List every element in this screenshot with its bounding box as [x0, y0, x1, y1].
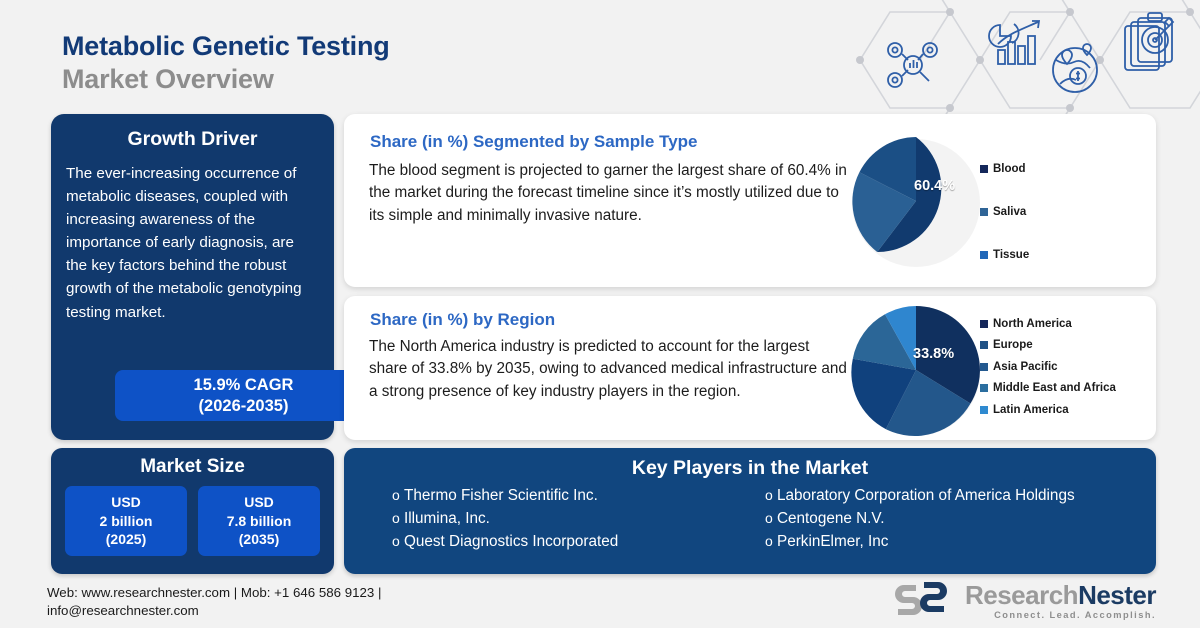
- contact-line-1: Web: www.researchnester.com | Mob: +1 64…: [47, 584, 577, 602]
- bullet-icon: o: [765, 508, 777, 529]
- player-name: Quest Diagnostics Incorporated: [404, 533, 618, 550]
- globe-money-icon: [1053, 44, 1097, 92]
- legend-swatch-latin-america: [980, 406, 988, 414]
- legend-item-blood: Blood: [980, 147, 1029, 190]
- hexagon-decoration: [850, 0, 1200, 120]
- key-players-title: Key Players in the Market: [362, 457, 1138, 480]
- sample-type-heading: Share (in %) Segmented by Sample Type: [370, 132, 698, 152]
- year-label: (2025): [106, 530, 146, 548]
- list-item: oPerkinElmer, Inc: [765, 531, 1138, 554]
- cagr-period: (2026-2035): [199, 396, 289, 416]
- logo-word-nester: Nester: [1078, 580, 1156, 610]
- page-subtitle: Market Overview: [62, 63, 390, 96]
- logo-mark-icon: [894, 582, 956, 620]
- legend-label: Europe: [993, 339, 1033, 351]
- player-name: PerkinElmer, Inc: [777, 533, 888, 550]
- growth-driver-body: The ever-increasing occurrence of metabo…: [64, 162, 321, 324]
- bar-chart-growth-icon: [989, 21, 1039, 64]
- value-label: 2 billion: [100, 512, 153, 530]
- region-text: The North America industry is predicted …: [369, 336, 849, 403]
- market-size-title: Market Size: [63, 456, 322, 478]
- player-name: Illumina, Inc.: [404, 510, 490, 527]
- bullet-icon: o: [392, 485, 404, 506]
- player-name: Laboratory Corporation of America Holdin…: [777, 487, 1075, 504]
- sample-type-pie-chart: [849, 134, 983, 268]
- region-heading: Share (in %) by Region: [370, 310, 555, 330]
- legend-swatch-tissue: [980, 251, 988, 259]
- value-label: 7.8 billion: [227, 512, 292, 530]
- legend-label: North America: [993, 318, 1072, 330]
- contact-line-2: info@researchnester.com: [47, 602, 577, 620]
- legend-swatch-middle-east-and-africa: [980, 384, 988, 392]
- list-item: oThermo Fisher Scientific Inc.: [392, 485, 765, 508]
- people-network-search-icon: [888, 43, 937, 87]
- legend-label: Blood: [993, 163, 1026, 175]
- infographic-page: Metabolic Genetic Testing Market Overvie…: [0, 0, 1200, 628]
- market-size-box-2035: USD 7.8 billion (2035): [198, 486, 320, 556]
- sample-type-text: The blood segment is projected to garner…: [369, 160, 849, 227]
- legend-item-europe: Europe: [980, 335, 1116, 357]
- market-size-boxes: USD 2 billion (2025) USD 7.8 billion (20…: [63, 486, 322, 556]
- region-pie-chart: [849, 303, 983, 437]
- market-size-panel: Market Size USD 2 billion (2025) USD 7.8…: [51, 448, 334, 574]
- sample-type-data-label: 60.4%: [914, 178, 955, 194]
- legend-swatch-north-america: [980, 320, 988, 328]
- cagr-value: 15.9% CAGR: [194, 375, 294, 395]
- region-card: Share (in %) by Region The North America…: [344, 296, 1156, 440]
- legend-label: Latin America: [993, 404, 1069, 416]
- list-item: oCentogene N.V.: [765, 508, 1138, 531]
- logo-tagline: Connect. Lead. Accomplish.: [965, 611, 1156, 620]
- list-item: oLaboratory Corporation of America Holdi…: [765, 485, 1138, 508]
- legend-label: Middle East and Africa: [993, 382, 1116, 394]
- legend-item-middle-east-and-africa: Middle East and Africa: [980, 378, 1116, 400]
- player-name: Thermo Fisher Scientific Inc.: [404, 487, 598, 504]
- list-item: oIllumina, Inc.: [392, 508, 765, 531]
- player-name: Centogene N.V.: [777, 510, 884, 527]
- key-players-columns: oThermo Fisher Scientific Inc. oIllumina…: [362, 485, 1138, 554]
- legend-swatch-blood: [980, 165, 988, 173]
- bullet-icon: o: [765, 485, 777, 506]
- bullet-icon: o: [392, 531, 404, 552]
- key-players-column-right: oLaboratory Corporation of America Holdi…: [765, 485, 1138, 554]
- cagr-badge: 15.9% CAGR (2026-2035): [115, 370, 372, 421]
- footer-contact: Web: www.researchnester.com | Mob: +1 64…: [47, 584, 577, 620]
- legend-item-tissue: Tissue: [980, 233, 1029, 276]
- logo-text: ResearchNester Connect. Lead. Accomplish…: [965, 582, 1156, 620]
- bullet-icon: o: [392, 508, 404, 529]
- key-players-column-left: oThermo Fisher Scientific Inc. oIllumina…: [362, 485, 765, 554]
- page-header: Metabolic Genetic Testing Market Overvie…: [62, 30, 390, 96]
- page-title: Metabolic Genetic Testing: [62, 30, 390, 63]
- logo-word-research: Research: [965, 580, 1078, 610]
- legend-item-latin-america: Latin America: [980, 399, 1116, 421]
- legend-label: Asia Pacific: [993, 361, 1058, 373]
- sample-type-card: Share (in %) Segmented by Sample Type Th…: [344, 114, 1156, 287]
- list-item: oQuest Diagnostics Incorporated: [392, 531, 765, 554]
- growth-driver-title: Growth Driver: [64, 128, 321, 151]
- year-label: (2035): [239, 530, 279, 548]
- legend-item-asia-pacific: Asia Pacific: [980, 356, 1116, 378]
- legend-swatch-europe: [980, 341, 988, 349]
- legend-swatch-saliva: [980, 208, 988, 216]
- region-legend: North America Europe Asia Pacific Middle…: [980, 313, 1116, 421]
- bullet-icon: o: [765, 531, 777, 552]
- legend-label: Tissue: [993, 249, 1029, 261]
- legend-label: Saliva: [993, 206, 1026, 218]
- growth-driver-panel: Growth Driver The ever-increasing occurr…: [51, 114, 334, 440]
- market-size-box-2025: USD 2 billion (2025): [65, 486, 187, 556]
- key-players-panel: Key Players in the Market oThermo Fisher…: [344, 448, 1156, 574]
- legend-swatch-asia-pacific: [980, 363, 988, 371]
- region-data-label: 33.8%: [913, 346, 954, 362]
- legend-item-north-america: North America: [980, 313, 1116, 335]
- clipboard-target-icon: [1125, 13, 1173, 70]
- sample-type-legend: Blood Saliva Tissue: [980, 147, 1029, 276]
- research-nester-logo: ResearchNester Connect. Lead. Accomplish…: [894, 582, 1156, 620]
- legend-item-saliva: Saliva: [980, 190, 1029, 233]
- currency-label: USD: [111, 493, 141, 511]
- currency-label: USD: [244, 493, 274, 511]
